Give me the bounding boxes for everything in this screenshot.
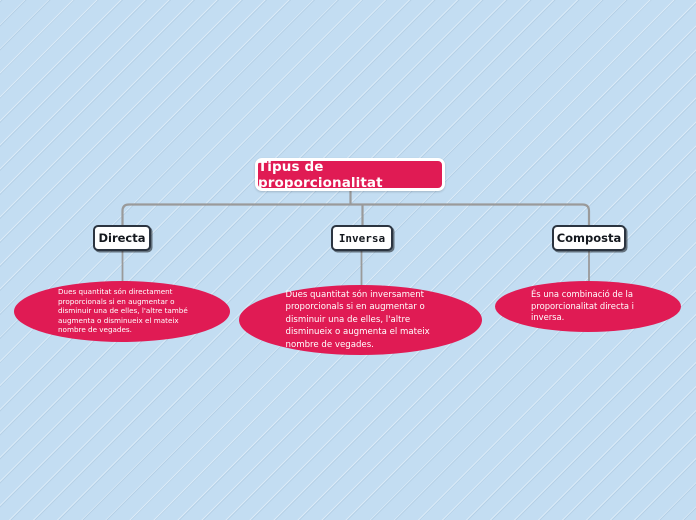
branch-node-label: Inversa xyxy=(339,232,385,245)
leaf-ellipse-text: Dues quantitat són directament proporcio… xyxy=(58,287,190,335)
connector-lines xyxy=(0,0,696,520)
leaf-ellipse-text: Dues quantitat són inversament proporcio… xyxy=(286,289,438,351)
branch-node-composta[interactable]: Composta xyxy=(552,225,626,251)
leaf-ellipse-inversa[interactable]: Dues quantitat són inversament proporcio… xyxy=(239,285,482,355)
diagram-canvas: Tipus de proporcionalitat Directa Invers… xyxy=(0,0,696,520)
leaf-ellipse-text: És una combinació de la proporcionalitat… xyxy=(531,289,647,325)
root-node-label: Tipus de proporcionalitat xyxy=(258,159,442,191)
branch-node-label: Directa xyxy=(98,231,145,245)
leaf-ellipse-directa[interactable]: Dues quantitat són directament proporcio… xyxy=(14,281,230,342)
root-node[interactable]: Tipus de proporcionalitat xyxy=(255,158,445,191)
branch-node-directa[interactable]: Directa xyxy=(93,225,151,251)
branch-node-inversa[interactable]: Inversa xyxy=(331,225,393,251)
leaf-ellipse-composta[interactable]: És una combinació de la proporcionalitat… xyxy=(495,281,681,332)
branch-node-label: Composta xyxy=(557,231,622,245)
